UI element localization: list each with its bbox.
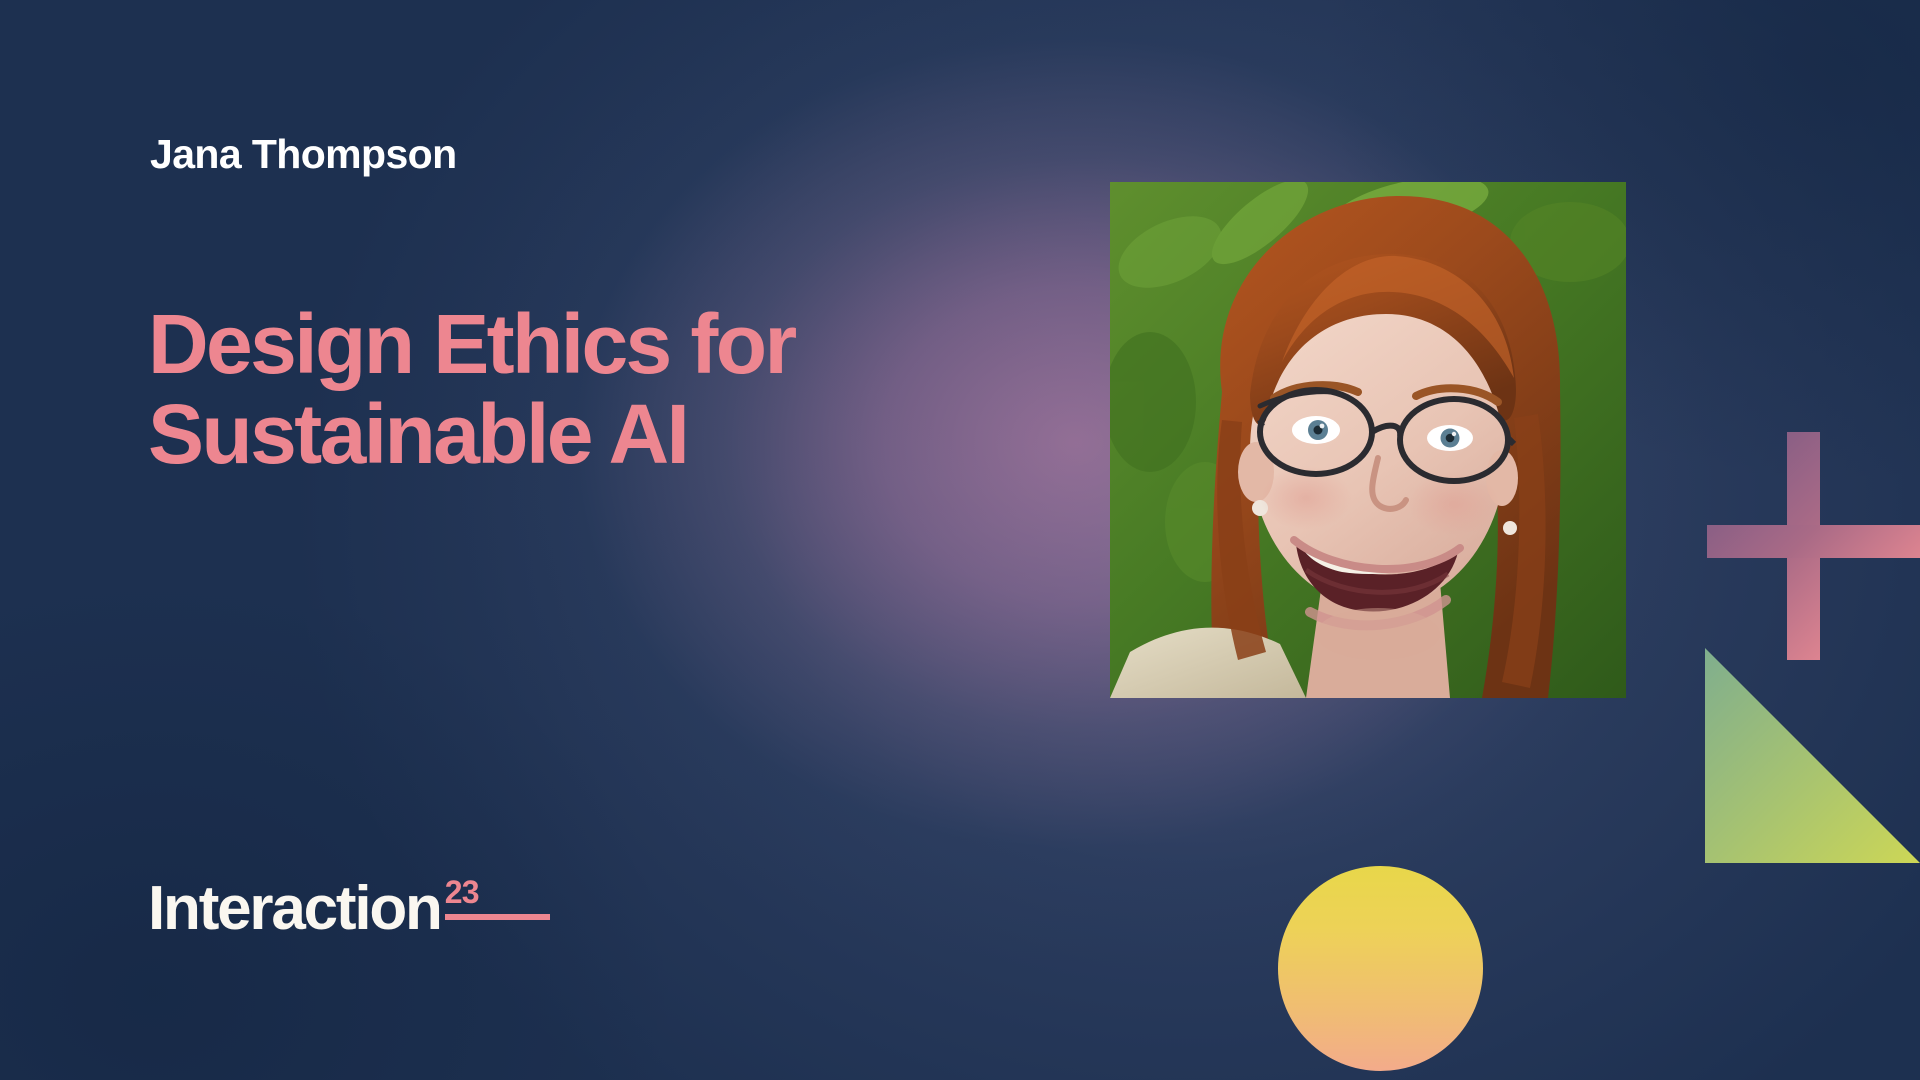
talk-title-line-2: Sustainable AI — [148, 390, 795, 480]
portrait-image — [1110, 182, 1626, 698]
talk-title-line-1: Design Ethics for — [148, 300, 795, 390]
plus-horizontal-bar — [1707, 525, 1920, 558]
speaker-name: Jana Thompson — [150, 131, 457, 178]
triangle-shape-icon — [1705, 648, 1920, 863]
brand-wordmark: Interaction — [148, 878, 441, 940]
triangle-svg — [1705, 648, 1920, 863]
brand-year-group: 23 — [445, 876, 479, 908]
talk-title: Design Ethics for Sustainable AI — [148, 300, 795, 480]
plus-shape-icon — [1707, 432, 1920, 660]
circle-shape-icon — [1278, 866, 1483, 1071]
interaction-brand-logo: Interaction 23 — [148, 878, 479, 940]
brand-year: 23 — [445, 876, 479, 908]
brand-underline-rule — [445, 914, 550, 920]
speaker-portrait — [1110, 182, 1626, 698]
presentation-slide: Jana Thompson Design Ethics for Sustaina… — [0, 0, 1920, 1080]
